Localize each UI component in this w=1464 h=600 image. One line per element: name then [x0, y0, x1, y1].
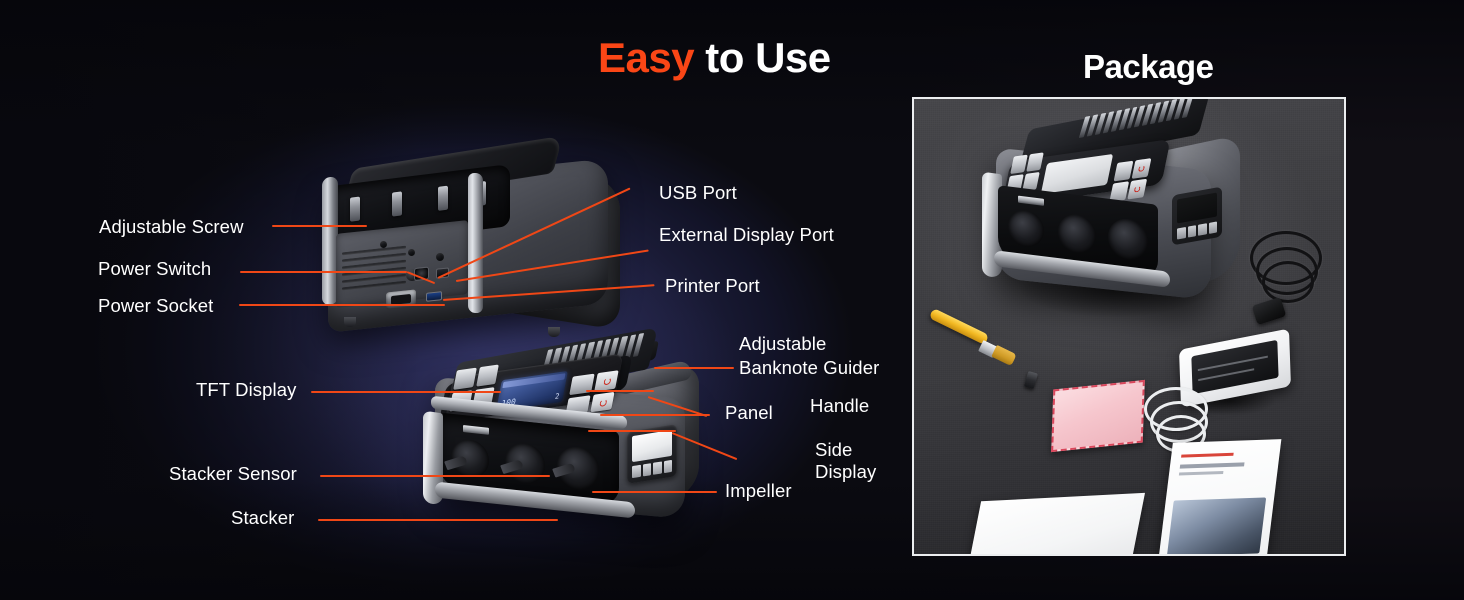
infographic-canvas: Easy to Use Package — [0, 0, 1464, 600]
callout-panel: Panel — [725, 400, 773, 425]
callout-banknote-guider: Banknote Guider — [739, 355, 879, 380]
usb-port-connector — [426, 291, 442, 302]
callout-stacker: Stacker — [231, 505, 294, 530]
callout-adjustable: Adjustable — [739, 331, 826, 356]
machine-rear-foot-right — [548, 327, 560, 337]
product-image-rear-view — [300, 145, 645, 345]
page-title-package: Package — [1083, 48, 1213, 86]
leader-line-banknote-guider — [654, 367, 734, 369]
machine-rear-port-cluster — [412, 246, 474, 301]
callout-side-display: Display — [815, 459, 876, 484]
leader-line-tft-display — [311, 391, 501, 393]
side-display-keys — [632, 460, 672, 478]
power-cord-plug — [1252, 297, 1287, 325]
leader-line-panel — [600, 414, 710, 416]
machine-side-display — [627, 424, 677, 484]
page-title-rest: to Use — [694, 34, 831, 81]
leader-line-power-switch — [240, 271, 407, 273]
stacker-sensor-element — [463, 425, 489, 435]
callout-printer-port: Printer Port — [665, 273, 760, 298]
side-display-screen — [632, 430, 672, 462]
callout-impeller: Impeller — [725, 478, 792, 503]
callout-tft-display: TFT Display — [196, 377, 296, 402]
leader-line-stacker — [318, 519, 558, 521]
machine-rear-screw-hole-1 — [380, 241, 387, 248]
callout-power-socket: Power Socket — [98, 293, 213, 318]
product-image-front-view: 2 100 — [395, 340, 725, 545]
machine-rear-foot-left — [344, 317, 356, 327]
pm-side-display — [1172, 187, 1222, 246]
callout-handle: Handle — [810, 393, 869, 418]
manual-cover-image — [1167, 497, 1266, 556]
leader-line-stacker-sensor — [320, 475, 550, 477]
package-item-power-cord — [1244, 227, 1336, 331]
package-contents-photo — [912, 97, 1346, 556]
leader-line-impeller — [592, 491, 717, 493]
callout-adjustable-screw: Adjustable Screw — [99, 214, 244, 239]
machine-power-socket — [386, 289, 416, 309]
callout-external-display-port: External Display Port — [659, 222, 834, 247]
machine-keypad-right-keys — [565, 370, 618, 416]
page-title-easy-to-use: Easy to Use — [598, 34, 831, 82]
machine-rear-vents — [342, 246, 406, 293]
leader-line-side-display — [588, 430, 676, 432]
package-item-user-manual — [1155, 439, 1282, 556]
callout-usb-port: USB Port — [659, 180, 737, 205]
page-title-accent: Easy — [598, 34, 694, 81]
leader-line-adjustable-screw — [272, 225, 367, 227]
package-item-cleaning-cloth — [1051, 380, 1145, 452]
leader-line-handle — [586, 390, 654, 392]
callout-power-switch: Power Switch — [98, 256, 211, 281]
package-item-calibration-card — [965, 493, 1145, 556]
leader-line-power-socket — [239, 304, 445, 306]
callout-stacker-sensor: Stacker Sensor — [169, 461, 297, 486]
